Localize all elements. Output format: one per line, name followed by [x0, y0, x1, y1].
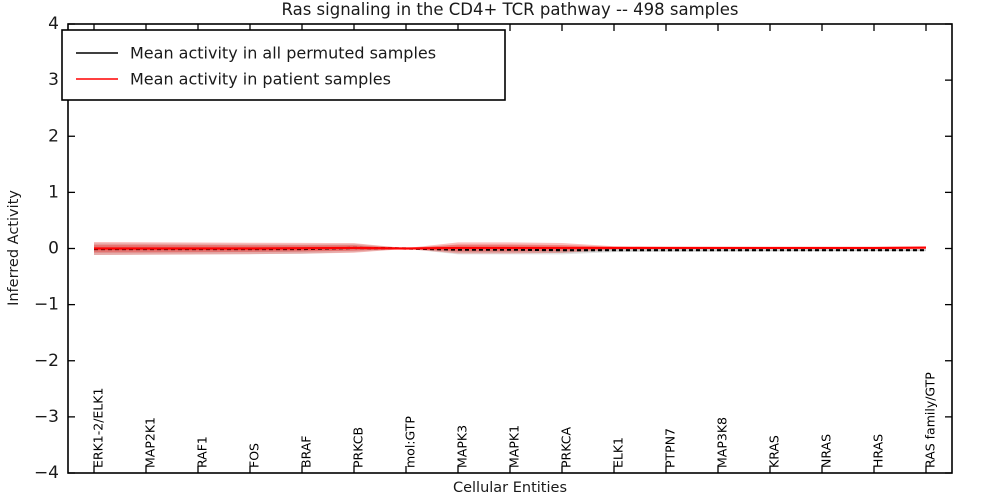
y-tick-label: 2 — [48, 126, 59, 146]
chart-svg: Ras signaling in the CD4+ TCR pathway --… — [0, 0, 1000, 500]
series-line — [94, 248, 926, 249]
x-tick-label: MAP2K1 — [143, 417, 158, 468]
x-tick-label: PRKCA — [559, 427, 574, 468]
x-tick-label: PRKCB — [351, 427, 366, 468]
chart-title: Ras signaling in the CD4+ TCR pathway --… — [282, 0, 739, 19]
legend-label-permuted: Mean activity in all permuted samples — [130, 44, 436, 63]
legend-frame — [62, 30, 505, 100]
x-tick-label: mol:GTP — [403, 416, 418, 468]
y-tick-label: −4 — [34, 463, 59, 483]
x-tick-label: MAPK1 — [507, 425, 522, 468]
y-tick-label: −1 — [34, 295, 59, 315]
chart-container: Ras signaling in the CD4+ TCR pathway --… — [0, 0, 1000, 500]
x-tick-label: HRAS — [871, 434, 886, 468]
y-tick-label: 1 — [48, 182, 59, 202]
x-tick-label: NRAS — [819, 434, 834, 468]
y-tick-label: −3 — [34, 407, 59, 427]
x-tick-label: BRAF — [299, 436, 314, 469]
legend-label-patient: Mean activity in patient samples — [130, 70, 391, 89]
x-tick-label: RAS family/GTP — [923, 372, 938, 468]
x-tick-label: FOS — [247, 443, 262, 468]
x-tick-label: PTPN7 — [663, 428, 678, 468]
x-tick-label: RAF1 — [195, 436, 210, 468]
y-tick-label: −2 — [34, 351, 59, 371]
y-tick-label: 3 — [48, 70, 59, 90]
x-tick-label: MAP3K8 — [715, 417, 730, 468]
x-tick-label: MAPK3 — [455, 425, 470, 468]
x-tick-label: ERK1-2/ELK1 — [91, 388, 106, 468]
chart-legend: Mean activity in all permuted samples Me… — [62, 30, 505, 100]
y-tick-label: 0 — [48, 239, 59, 259]
y-tick-label: 4 — [48, 14, 59, 34]
x-tick-label: ELK1 — [611, 437, 626, 468]
x-axis-title: Cellular Entities — [453, 480, 567, 496]
y-axis-title: Inferred Activity — [6, 190, 22, 306]
x-tick-label: KRAS — [767, 435, 782, 468]
